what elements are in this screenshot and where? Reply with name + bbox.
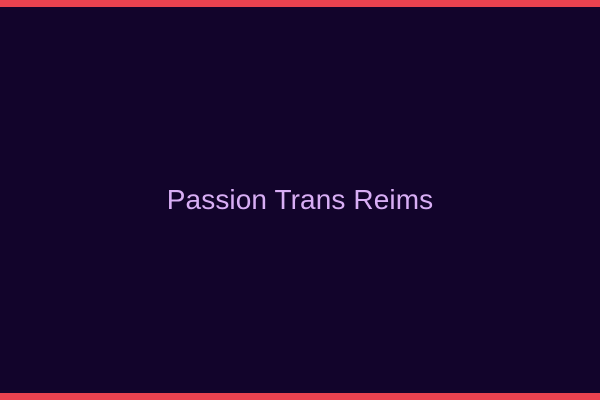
bottom-accent-bar	[0, 393, 600, 400]
top-accent-bar	[0, 0, 600, 7]
banner-content-area: Passion Trans Reims	[0, 7, 600, 393]
banner-canvas: Passion Trans Reims	[0, 0, 600, 400]
banner-headline: Passion Trans Reims	[167, 185, 433, 216]
